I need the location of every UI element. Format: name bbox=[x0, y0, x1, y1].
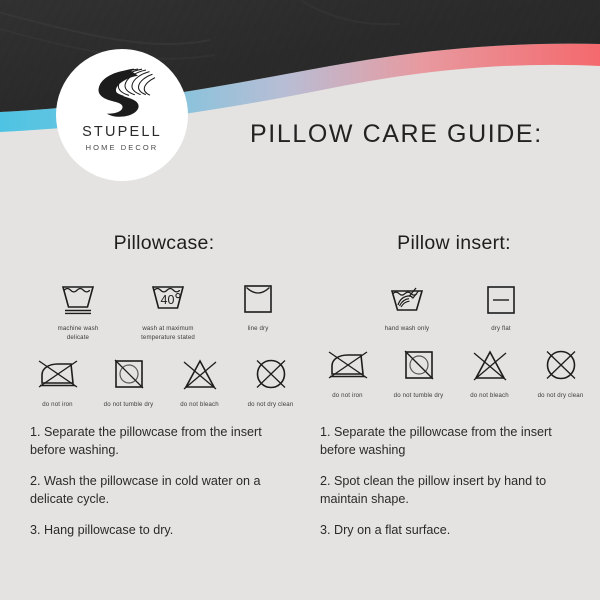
symbol-do-not-tumble-dry: do not tumble dry bbox=[389, 344, 448, 401]
symbol-do-not-bleach: do not bleach bbox=[460, 344, 519, 401]
pillow-insert-column: Pillow insert: hand wash only bbox=[318, 232, 590, 401]
page-title: PILLOW CARE GUIDE: bbox=[250, 120, 543, 149]
symbol-caption: machine wash delicate bbox=[58, 325, 99, 343]
pillowcase-symbol-row-1: machine wash delicate 40 wash at maximum… bbox=[28, 277, 300, 343]
do-not-tumble-dry-icon bbox=[399, 344, 439, 386]
symbol-caption: do not bleach bbox=[470, 392, 509, 401]
stupell-swoosh-logo-icon bbox=[85, 65, 159, 119]
do-not-iron-icon bbox=[36, 353, 80, 395]
symbol-machine-wash-delicate: machine wash delicate bbox=[46, 277, 110, 343]
do-not-tumble-dry-icon bbox=[109, 353, 149, 395]
pillow-insert-symbol-row-1: hand wash only dry flat bbox=[318, 277, 590, 334]
pillowcase-symbol-row-2: do not iron do not tumble dry bbox=[28, 353, 300, 410]
symbol-do-not-iron: do not iron bbox=[318, 344, 377, 401]
do-not-bleach-icon bbox=[179, 353, 221, 395]
column-heading-pillow-insert: Pillow insert: bbox=[318, 232, 590, 255]
instruction-step: 2. Spot clean the pillow insert by hand … bbox=[320, 473, 582, 509]
symbol-caption: do not tumble dry bbox=[104, 401, 154, 410]
symbol-do-not-dry-clean: do not dry clean bbox=[531, 344, 590, 401]
symbol-caption: dry flat bbox=[491, 325, 511, 334]
symbol-caption: do not iron bbox=[42, 401, 72, 410]
symbol-caption: do not iron bbox=[332, 392, 362, 401]
machine-wash-delicate-icon bbox=[58, 277, 98, 319]
hand-wash-only-icon bbox=[387, 277, 427, 319]
care-guide-page: STUPELL HOME DECOR PILLOW CARE GUIDE: Pi… bbox=[0, 0, 600, 600]
instruction-step: 1. Separate the pillowcase from the inse… bbox=[30, 424, 292, 460]
symbol-line-dry: line dry bbox=[226, 277, 290, 334]
symbol-do-not-bleach: do not bleach bbox=[170, 353, 229, 410]
symbol-hand-wash-only: hand wash only bbox=[375, 277, 439, 334]
symbol-caption: hand wash only bbox=[385, 325, 429, 334]
instruction-step: 3. Dry on a flat surface. bbox=[320, 522, 582, 540]
symbol-dry-flat: dry flat bbox=[469, 277, 533, 334]
do-not-iron-icon bbox=[326, 344, 370, 386]
symbol-wash-40-degrees: 40 wash at maximum temperature stated bbox=[136, 277, 200, 343]
column-heading-pillowcase: Pillowcase: bbox=[28, 232, 300, 255]
symbol-do-not-tumble-dry: do not tumble dry bbox=[99, 353, 158, 410]
pillow-insert-instructions: 1. Separate the pillowcase from the inse… bbox=[320, 424, 582, 539]
pillowcase-instructions: 1. Separate the pillowcase from the inse… bbox=[30, 424, 292, 539]
line-dry-icon bbox=[238, 277, 278, 319]
symbol-caption: do not dry clean bbox=[538, 392, 584, 401]
symbol-caption: do not dry clean bbox=[248, 401, 294, 410]
dry-flat-icon bbox=[481, 277, 521, 319]
symbol-caption: do not tumble dry bbox=[394, 392, 444, 401]
symbol-do-not-iron: do not iron bbox=[28, 353, 87, 410]
symbol-do-not-dry-clean: do not dry clean bbox=[241, 353, 300, 410]
pillow-insert-symbol-row-2: do not iron do not tumble dry bbox=[318, 344, 590, 401]
brand-logo-badge: STUPELL HOME DECOR bbox=[56, 49, 188, 181]
instruction-step: 1. Separate the pillowcase from the inse… bbox=[320, 424, 582, 460]
symbol-caption: wash at maximum temperature stated bbox=[141, 325, 195, 343]
brand-name: STUPELL bbox=[82, 124, 162, 140]
do-not-bleach-icon bbox=[469, 344, 511, 386]
wash-40-degrees-icon: 40 bbox=[148, 277, 188, 319]
wash-temperature-value: 40 bbox=[161, 293, 175, 307]
pillowcase-column: Pillowcase: machine wash delicate bbox=[28, 232, 300, 409]
symbol-caption: do not bleach bbox=[180, 401, 219, 410]
symbol-caption: line dry bbox=[248, 325, 269, 334]
do-not-dry-clean-icon bbox=[251, 353, 291, 395]
instruction-step: 3. Hang pillowcase to dry. bbox=[30, 522, 292, 540]
do-not-dry-clean-icon bbox=[541, 344, 581, 386]
instruction-step: 2. Wash the pillowcase in cold water on … bbox=[30, 473, 292, 509]
brand-tagline: HOME DECOR bbox=[86, 143, 159, 152]
